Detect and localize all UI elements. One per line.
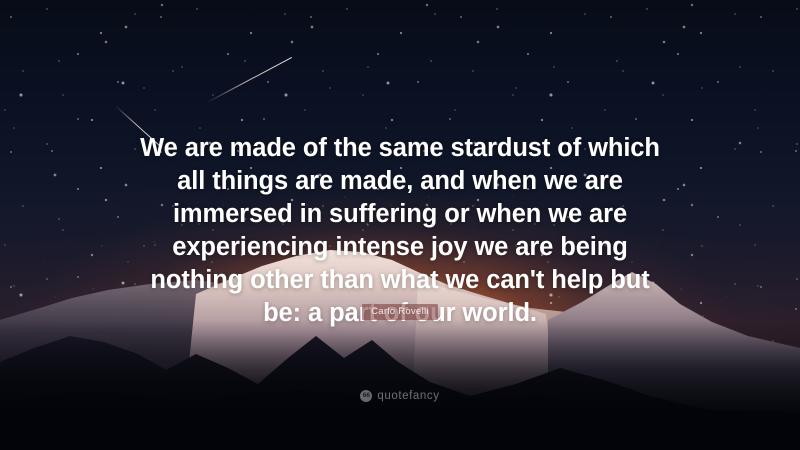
watermark-brand-label: quotefancy: [377, 390, 439, 402]
quotefancy-logo-icon: 66: [360, 390, 372, 402]
author-name-badge: Carlo Rovelli: [362, 304, 438, 320]
watermark[interactable]: 66 quotefancy: [0, 390, 800, 402]
quote-poster: We are made of the same stardust of whic…: [0, 0, 800, 450]
author-attribution: Carlo Rovelli: [0, 301, 800, 320]
